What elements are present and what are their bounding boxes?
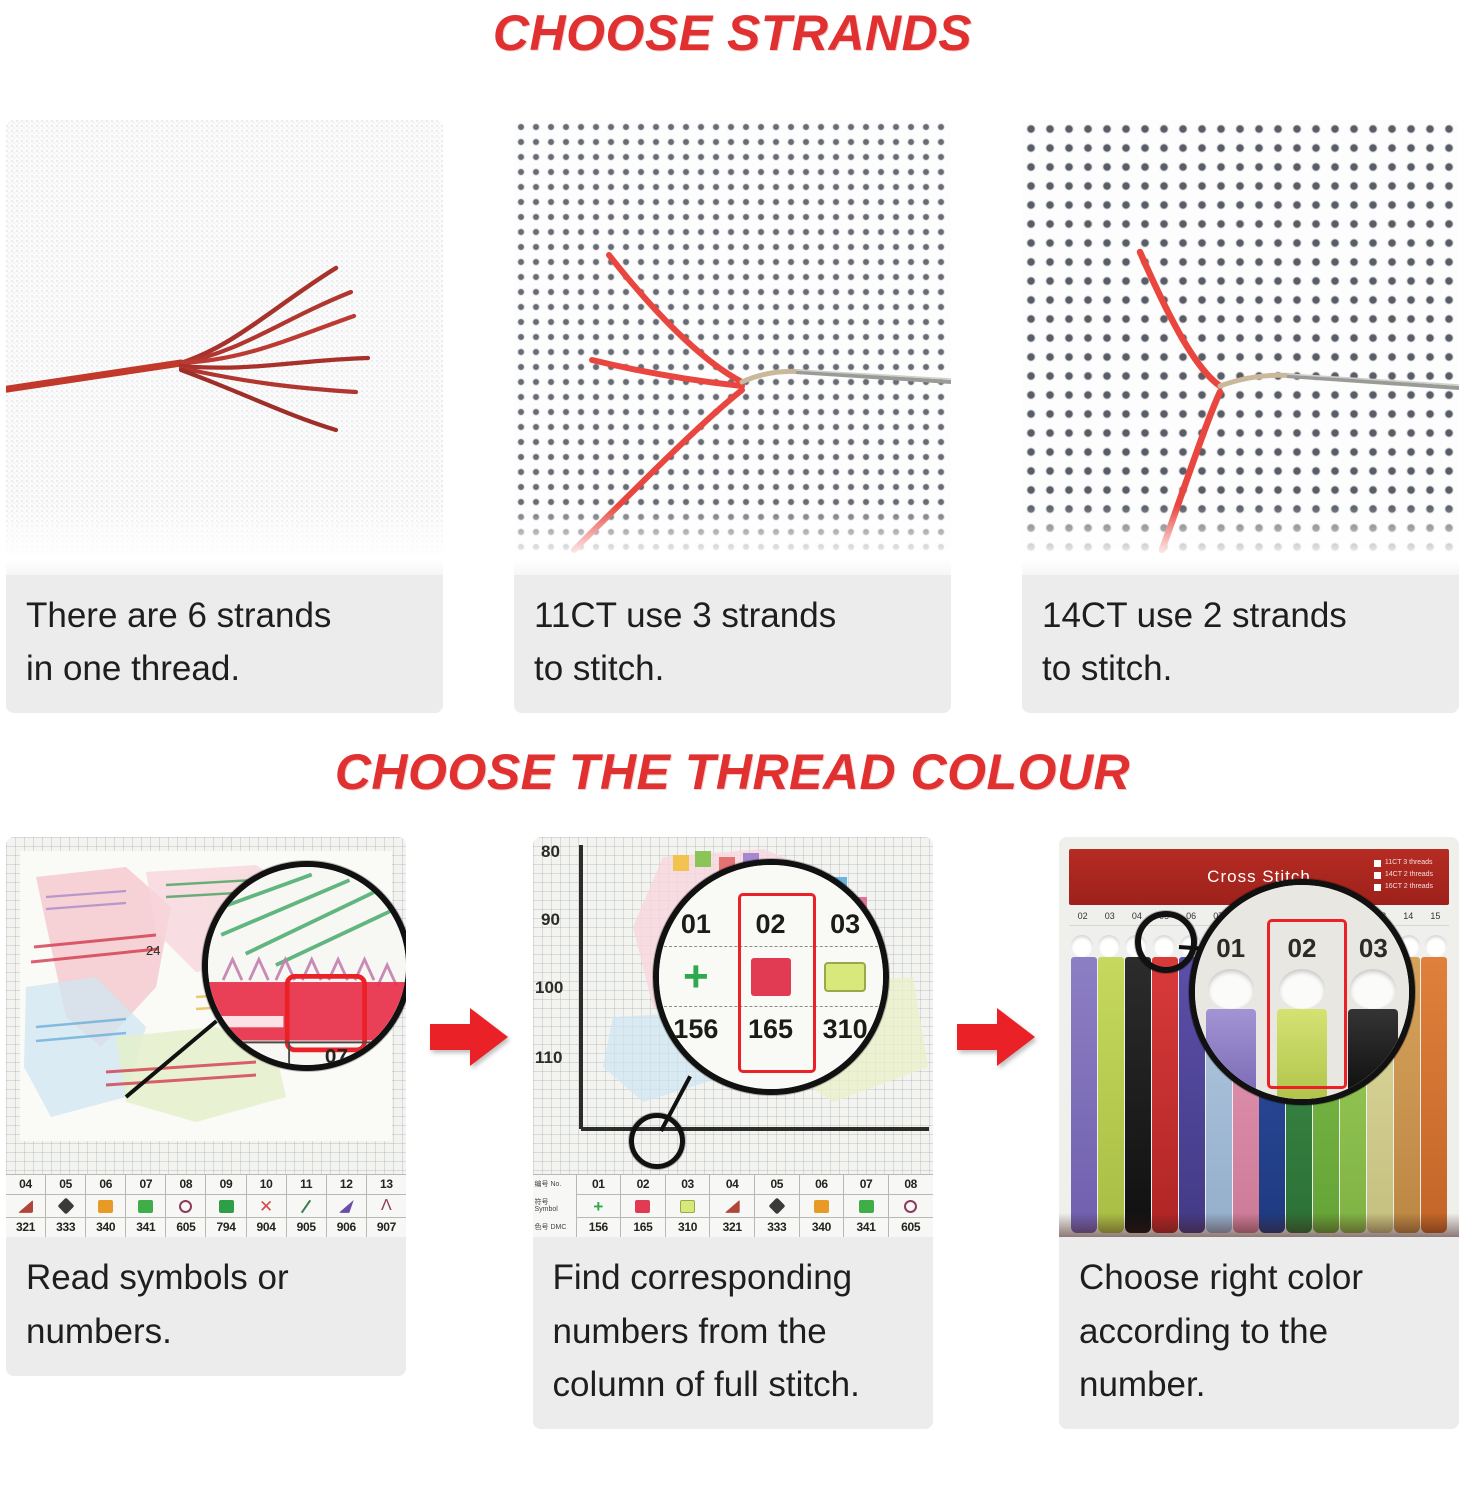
strands-card-2-caption: 11CT use 3 strands to stitch. bbox=[514, 575, 951, 713]
legend-symbol bbox=[621, 1194, 665, 1217]
legend-number: 10 bbox=[260, 1175, 273, 1194]
legend-code: 340 bbox=[86, 1217, 125, 1236]
colour-card-2: 80 90 100 110 01 02 03 bbox=[533, 837, 933, 1429]
magnified-hole bbox=[1208, 969, 1254, 1009]
highlight-box-02 bbox=[1267, 919, 1347, 1089]
legend-code: 905 bbox=[287, 1217, 326, 1236]
hole-highlight-circle bbox=[1135, 911, 1197, 973]
legend-symbol bbox=[46, 1194, 85, 1217]
svg-text:80: 80 bbox=[541, 842, 560, 861]
legend-code: 340 bbox=[800, 1217, 844, 1236]
magnified-number-right: 07 bbox=[325, 1045, 348, 1065]
legend-number: 08 bbox=[180, 1175, 193, 1194]
legend-symbol bbox=[6, 1194, 45, 1217]
hole-number: 02 bbox=[1069, 911, 1096, 921]
thread-card-option[interactable]: 11CT 3 threads bbox=[1374, 857, 1433, 869]
legend-column: 01 + 156 bbox=[577, 1175, 622, 1237]
strands-card-row: There are 6 strands in one thread. 11CT … bbox=[0, 120, 1465, 713]
right-arrow-icon bbox=[957, 1006, 1035, 1068]
legend-number: 01 bbox=[592, 1175, 605, 1194]
magnified-symbol: + bbox=[659, 955, 734, 999]
legend-symbol bbox=[86, 1194, 125, 1217]
photo-11ct-three-strands bbox=[514, 120, 951, 575]
legend-column: 06 340 bbox=[86, 1175, 126, 1237]
legend-number: 05 bbox=[770, 1175, 783, 1194]
legend-symbol: ✕ bbox=[247, 1194, 286, 1217]
legend-column: 05 333 bbox=[755, 1175, 800, 1237]
legend-highlight-circle bbox=[629, 1113, 685, 1169]
magnified-symbol bbox=[808, 962, 883, 992]
legend-symbol bbox=[666, 1194, 710, 1217]
thread-hole bbox=[1071, 935, 1093, 957]
legend-column: 12 906 bbox=[327, 1175, 367, 1237]
colour-card-3-caption: Choose right color according to the numb… bbox=[1059, 1237, 1459, 1429]
legend-symbol bbox=[126, 1194, 165, 1217]
legend-number: 09 bbox=[220, 1175, 233, 1194]
legend-column: 07 341 bbox=[126, 1175, 166, 1237]
pattern-legend-1: 04 321 05 333 06 340 07 341 bbox=[6, 1174, 406, 1237]
colour-card-2-caption: Find corresponding numbers from the colu… bbox=[533, 1237, 933, 1429]
legend-number: 04 bbox=[726, 1175, 739, 1194]
legend-label-symbol: 符号 Symbol bbox=[535, 1199, 574, 1214]
photo-thread-card: Cross Stitch 11CT 3 threads 14CT 2 threa… bbox=[1059, 837, 1459, 1237]
legend-code: 341 bbox=[126, 1217, 165, 1236]
legend-column: 09 794 bbox=[206, 1175, 246, 1237]
legend-number: 06 bbox=[99, 1175, 112, 1194]
legend-symbol bbox=[889, 1194, 933, 1217]
legend-code: 321 bbox=[6, 1217, 45, 1236]
legend-symbol bbox=[844, 1194, 888, 1217]
legend-code: 321 bbox=[710, 1217, 754, 1236]
legend-symbol bbox=[327, 1194, 366, 1217]
legend-column: 07 341 bbox=[844, 1175, 889, 1237]
thread-hole bbox=[1098, 935, 1120, 957]
legend-code: 156 bbox=[577, 1217, 621, 1236]
legend-column: 03 310 bbox=[666, 1175, 711, 1237]
magnified-number: 01 bbox=[659, 909, 734, 940]
legend-symbol bbox=[287, 1194, 326, 1217]
legend-column: 04 321 bbox=[6, 1175, 46, 1237]
legend-number: 05 bbox=[59, 1175, 72, 1194]
photo-shadow-band bbox=[1059, 1213, 1459, 1237]
hole-number: 15 bbox=[1422, 911, 1449, 921]
legend-code: 165 bbox=[621, 1217, 665, 1236]
legend-number: 11 bbox=[300, 1175, 312, 1194]
legend-number: 12 bbox=[340, 1175, 353, 1194]
legend-code: 904 bbox=[247, 1217, 286, 1236]
checkbox-icon[interactable] bbox=[1374, 872, 1381, 879]
magnified-pattern-content: 02 07 bbox=[208, 867, 406, 1065]
legend-number: 04 bbox=[19, 1175, 32, 1194]
legend-code: 333 bbox=[46, 1217, 85, 1236]
legend-symbol bbox=[206, 1194, 245, 1217]
strands-card-1-caption: There are 6 strands in one thread. bbox=[6, 575, 443, 713]
option-label: 14CT 2 threads bbox=[1385, 869, 1433, 881]
magnified-number: 01 bbox=[1195, 933, 1266, 964]
colour-card-1: 24 bbox=[6, 837, 406, 1375]
magnifier-circle-1[interactable]: 02 07 bbox=[202, 861, 406, 1071]
legend-row-labels: 编号 No. 符号 Symbol 色号 DMC bbox=[533, 1175, 577, 1237]
svg-text:90: 90 bbox=[541, 910, 560, 929]
legend-code: 341 bbox=[844, 1217, 888, 1236]
legend-number: 08 bbox=[904, 1175, 917, 1194]
legend-column: 08 605 bbox=[166, 1175, 206, 1237]
colour-card-3: Cross Stitch 11CT 3 threads 14CT 2 threa… bbox=[1059, 837, 1459, 1429]
strands-card-3: 14CT use 2 strands to stitch. bbox=[1022, 120, 1459, 713]
legend-number: 03 bbox=[681, 1175, 694, 1194]
strands-card-2: 11CT use 3 strands to stitch. bbox=[514, 120, 951, 713]
photo-pattern-symbols: 24 bbox=[6, 837, 406, 1237]
step-arrow-1-wrap bbox=[424, 837, 514, 1237]
legend-code: 605 bbox=[166, 1217, 205, 1236]
legend-column: 13 Λ 907 bbox=[367, 1175, 406, 1237]
photo-bottom-fade bbox=[6, 505, 443, 575]
thread-skein bbox=[1125, 957, 1151, 1233]
colour-card-1-caption: Read symbols or numbers. bbox=[6, 1237, 406, 1375]
magnified-number: 03 bbox=[1338, 933, 1409, 964]
magnified-number: 03 bbox=[808, 909, 883, 940]
legend-column: 11 905 bbox=[287, 1175, 327, 1237]
thread-skein bbox=[1098, 957, 1124, 1233]
highlight-box-02 bbox=[738, 893, 816, 1073]
magnifier-circle-3[interactable]: 01 02 03 bbox=[1189, 879, 1415, 1105]
checkbox-icon[interactable] bbox=[1374, 860, 1381, 867]
thread-skein bbox=[1152, 957, 1178, 1233]
legend-label-number: 编号 No. bbox=[535, 1181, 574, 1188]
legend-column: 02 165 bbox=[621, 1175, 666, 1237]
legend-number: 07 bbox=[860, 1175, 873, 1194]
legend-number: 02 bbox=[637, 1175, 650, 1194]
svg-text:110: 110 bbox=[535, 1048, 562, 1067]
legend-number: 13 bbox=[380, 1175, 393, 1194]
magnified-skein bbox=[1348, 1009, 1398, 1099]
hole-number: 03 bbox=[1096, 911, 1123, 921]
thread-card-option[interactable]: 14CT 2 threads bbox=[1374, 869, 1433, 881]
thread-skein bbox=[1421, 957, 1447, 1233]
legend-column: 08 605 bbox=[889, 1175, 933, 1237]
legend-code: 333 bbox=[755, 1217, 799, 1236]
legend-code: 907 bbox=[367, 1217, 406, 1236]
legend-symbol bbox=[710, 1194, 754, 1217]
photo-pattern-chart: 80 90 100 110 01 02 03 bbox=[533, 837, 933, 1237]
svg-text:100: 100 bbox=[535, 978, 563, 997]
photo-six-strands bbox=[6, 120, 443, 575]
legend-column: 06 340 bbox=[800, 1175, 845, 1237]
legend-label-dmc: 色号 DMC bbox=[535, 1224, 574, 1231]
photo-bottom-fade bbox=[514, 505, 951, 575]
step-arrow-2-wrap bbox=[951, 837, 1041, 1237]
page-title-choose-strands: CHOOSE STRANDS bbox=[0, 0, 1465, 58]
legend-column: 10 ✕ 904 bbox=[247, 1175, 287, 1237]
legend-symbol bbox=[166, 1194, 205, 1217]
legend-code: 794 bbox=[206, 1217, 245, 1236]
legend-number: 07 bbox=[139, 1175, 152, 1194]
legend-code: 906 bbox=[327, 1217, 366, 1236]
legend-column: 04 321 bbox=[710, 1175, 755, 1237]
legend-symbol bbox=[800, 1194, 844, 1217]
magnified-code: 310 bbox=[808, 1014, 883, 1045]
legend-number: 06 bbox=[815, 1175, 828, 1194]
legend-code: 310 bbox=[666, 1217, 710, 1236]
thread-hole bbox=[1425, 935, 1447, 957]
magnified-code: 156 bbox=[659, 1014, 734, 1045]
strands-card-3-caption: 14CT use 2 strands to stitch. bbox=[1022, 575, 1459, 713]
magnified-hole bbox=[1350, 969, 1396, 1009]
pattern-legend-2: 编号 No. 符号 Symbol 色号 DMC 01 + 156 02 165 … bbox=[533, 1174, 933, 1237]
legend-symbol bbox=[755, 1194, 799, 1217]
legend-column: 05 333 bbox=[46, 1175, 86, 1237]
photo-bottom-fade bbox=[1022, 505, 1459, 575]
legend-symbol: + bbox=[577, 1194, 621, 1217]
thread-skein bbox=[1071, 957, 1097, 1233]
magnified-number-left: 02 bbox=[233, 1045, 256, 1065]
magnifier-circle-2[interactable]: 01 02 03 + bbox=[653, 859, 889, 1095]
legend-symbol: Λ bbox=[367, 1194, 406, 1217]
right-arrow-icon bbox=[430, 1006, 508, 1068]
svg-text:24: 24 bbox=[146, 943, 160, 958]
page-title-choose-thread-colour: CHOOSE THE THREAD COLOUR bbox=[0, 741, 1465, 797]
option-label: 11CT 3 threads bbox=[1385, 857, 1433, 869]
photo-14ct-two-strands bbox=[1022, 120, 1459, 575]
magnified-skein bbox=[1206, 1009, 1256, 1099]
colour-card-row: 24 bbox=[0, 837, 1465, 1429]
legend-code: 605 bbox=[889, 1217, 933, 1236]
strands-card-1: There are 6 strands in one thread. bbox=[6, 120, 443, 713]
